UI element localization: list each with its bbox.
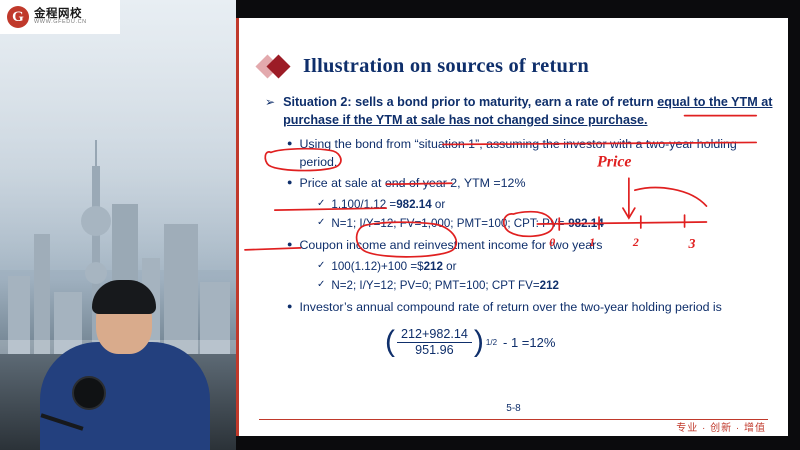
slide-panel: Illustration on sources of return ➢ Situ… <box>236 18 788 436</box>
sub-pre: N=2; I/Y=12; PV=0; PMT=100; CPT FV= <box>331 279 539 292</box>
logo-mark-icon: G <box>7 6 29 28</box>
formula: ( 212+982.14 951.96 ) 1/2 - 1 =12% <box>385 327 777 357</box>
building-2 <box>34 234 50 354</box>
microphone-icon <box>72 376 106 410</box>
list-item-text: Price at sale at end of year 2, YTM =12% <box>299 175 525 193</box>
dot-bullet-icon: ● <box>287 299 292 317</box>
diamond-bullet-icon <box>259 54 293 78</box>
formula-exponent: 1/2 <box>486 338 497 347</box>
sub-pre: 100(1.12)+100 =$ <box>331 260 423 273</box>
footer-slogan: 专业 · 创新 · 增值 <box>676 419 766 434</box>
formula-paren-open: ( <box>385 327 395 357</box>
formula-numerator: 212+982.14 <box>397 327 472 342</box>
sub-list-item: ✓ 1,100/1.12 =982.14 or <box>317 196 777 213</box>
formula-paren-close: ) <box>474 327 484 357</box>
sub-pre: 1,100/1.12 = <box>331 198 396 211</box>
sub-list-item: ✓ 100(1.12)+100 =$212 or <box>317 258 777 275</box>
screen: G 金程网校 WWW.GFEDU.CN Illustration on sour… <box>0 0 800 450</box>
video-pane <box>0 0 236 450</box>
check-bullet-icon: ✓ <box>317 215 325 232</box>
list-item: ● Coupon income and reinvestment income … <box>287 237 777 255</box>
sub-list-item: ✓ N=2; I/Y=12; PV=0; PMT=100; CPT FV=212 <box>317 277 777 294</box>
sub-bold: -982.14 <box>564 217 603 230</box>
formula-denominator: 951.96 <box>411 343 458 357</box>
sub-pre: N=1; I/Y=12; FV=1,000; PMT=100; CPT: PV= <box>331 217 564 230</box>
slide-body: ➢ Situation 2: sells a bond prior to mat… <box>265 94 777 357</box>
brand-url: WWW.GFEDU.CN <box>34 20 87 26</box>
check-bullet-icon: ✓ <box>317 196 325 213</box>
sub-bold: 212 <box>424 260 443 273</box>
page-number: 5-8 <box>239 403 788 414</box>
sub-bold: 982.14 <box>396 198 431 211</box>
list-item: ● Using the bond from “situation 1”, ass… <box>287 136 777 172</box>
formula-tail: - 1 =12% <box>503 335 555 350</box>
level1-text: Situation 2: sells a bond prior to matur… <box>283 94 777 130</box>
sub-list-item-text: 100(1.12)+100 =$212 or <box>331 258 456 275</box>
list-item-text: Investor’s annual compound rate of retur… <box>299 299 721 317</box>
check-bullet-icon: ✓ <box>317 258 325 275</box>
list-item-text: Coupon income and reinvestment income fo… <box>299 237 602 255</box>
page-title: Illustration on sources of return <box>303 55 589 78</box>
sub-list-item-text: N=2; I/Y=12; PV=0; PMT=100; CPT FV=212 <box>331 277 559 294</box>
list-item: ● Price at sale at end of year 2, YTM =1… <box>287 175 777 193</box>
dot-bullet-icon: ● <box>287 175 292 193</box>
formula-fraction: 212+982.14 951.96 <box>397 327 472 357</box>
sub-post: or <box>432 198 446 211</box>
level1-bullet: ➢ Situation 2: sells a bond prior to mat… <box>265 94 777 130</box>
arrow-bullet-icon: ➢ <box>265 94 275 130</box>
brand-logo: G 金程网校 WWW.GFEDU.CN <box>0 0 120 34</box>
sub-bold: 212 <box>540 279 559 292</box>
presenter-body <box>40 342 210 450</box>
list-item-text: Using the bond from “situation 1”, assum… <box>299 136 777 172</box>
dot-bullet-icon: ● <box>287 136 292 172</box>
sub-list-item-text: 1,100/1.12 =982.14 or <box>331 196 445 213</box>
tv-tower-spire <box>95 140 97 166</box>
list-item: ● Investor’s annual compound rate of ret… <box>287 299 777 317</box>
check-bullet-icon: ✓ <box>317 277 325 294</box>
level1-text-a: Situation 2: sells a bond prior to matur… <box>283 95 657 109</box>
sub-post: or <box>443 260 457 273</box>
building-6 <box>164 224 198 354</box>
sub-list-item-text: N=1; I/Y=12; FV=1,000; PMT=100; CPT: PV=… <box>331 215 603 232</box>
slide-title-row: Illustration on sources of return <box>259 54 589 78</box>
sub-list-item: ✓ N=1; I/Y=12; FV=1,000; PMT=100; CPT: P… <box>317 215 777 232</box>
dot-bullet-icon: ● <box>287 237 292 255</box>
